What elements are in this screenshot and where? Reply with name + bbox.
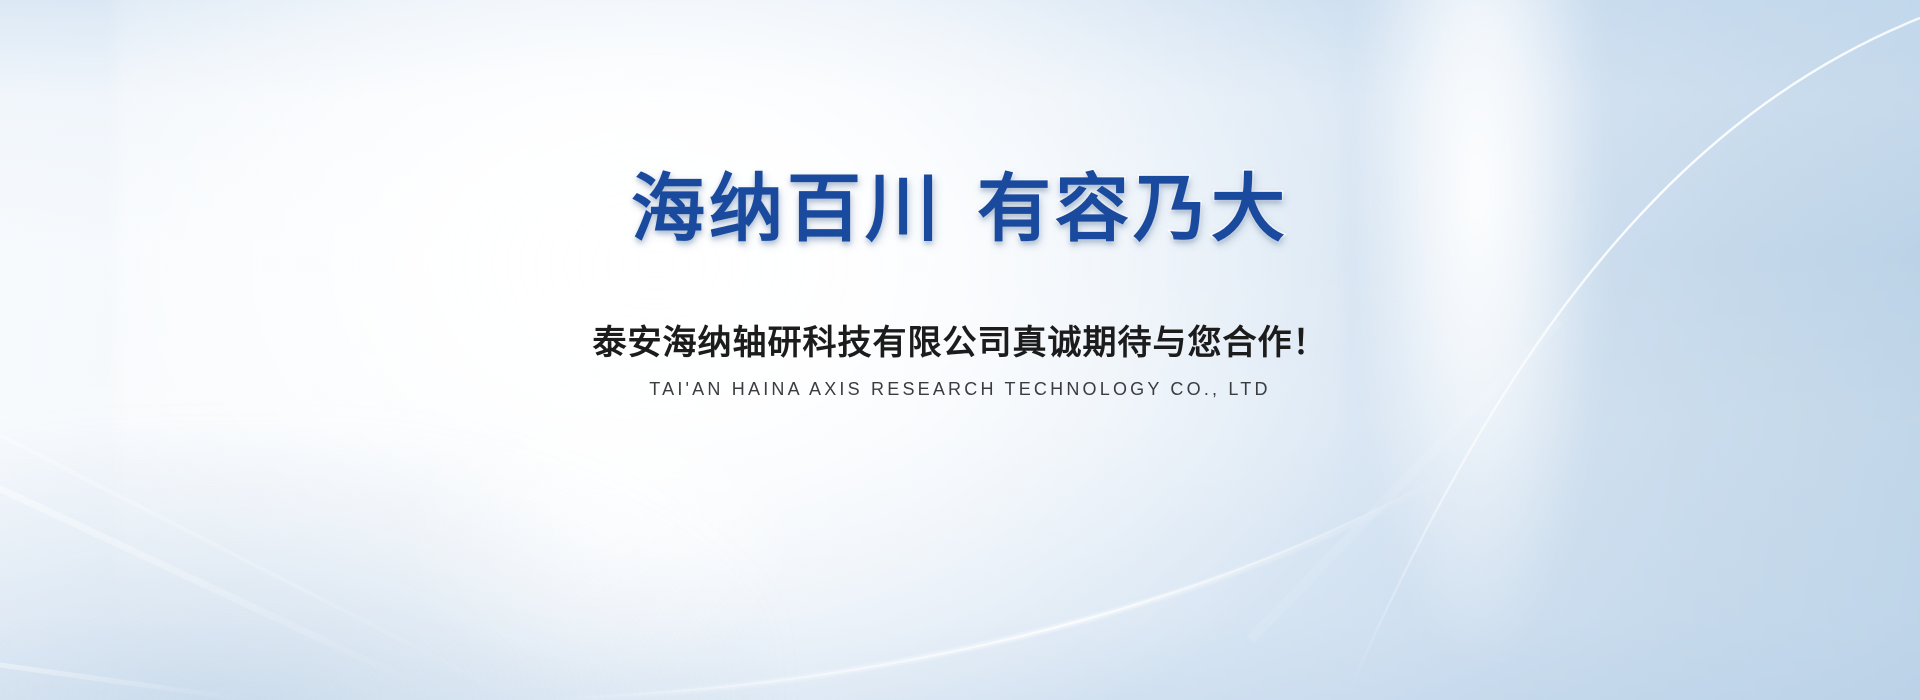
banner-subtitle-english: TAI'AN HAINA AXIS RESEARCH TECHNOLOGY CO…: [649, 380, 1270, 398]
banner-subtitle-chinese: 泰安海纳轴研科技有限公司真诚期待与您合作！: [593, 326, 1328, 360]
hero-banner: 海纳百川有容乃大 泰安海纳轴研科技有限公司真诚期待与您合作！ TAI'AN HA…: [0, 0, 1920, 700]
headline-part-two: 有容乃大: [977, 167, 1289, 250]
banner-content: 海纳百川有容乃大 泰安海纳轴研科技有限公司真诚期待与您合作！ TAI'AN HA…: [0, 0, 1920, 700]
headline-part-one: 海纳百川: [631, 167, 943, 250]
banner-headline: 海纳百川有容乃大: [631, 172, 1289, 246]
